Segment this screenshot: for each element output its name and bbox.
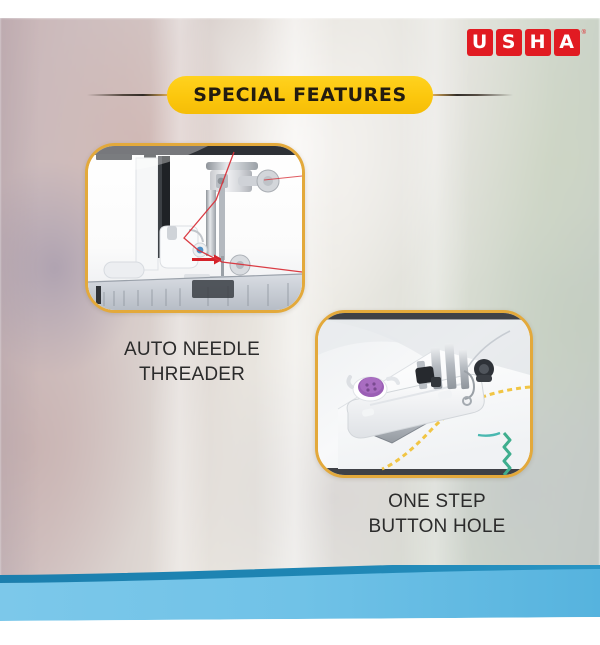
caption-one-step-button-hole: ONE STEP BUTTON HOLE bbox=[305, 489, 569, 539]
promo-banner-canvas: U S H A ® SPECIAL FEATURES bbox=[0, 0, 600, 645]
top-white-strip bbox=[0, 0, 600, 18]
logo-letter-u: U bbox=[467, 29, 493, 56]
logo-letter-a: A bbox=[554, 29, 580, 56]
auto-needle-threader-photo bbox=[88, 146, 302, 310]
banner-rule-left bbox=[87, 94, 167, 96]
special-features-banner: SPECIAL FEATURES bbox=[0, 76, 600, 114]
banner-pill: SPECIAL FEATURES bbox=[167, 76, 433, 114]
footer-wave bbox=[0, 565, 600, 645]
logo-letter-h: H bbox=[525, 29, 551, 56]
usha-logo: U S H A ® bbox=[467, 29, 586, 56]
caption-line-1: ONE STEP bbox=[305, 489, 569, 514]
caption-line-1: AUTO NEEDLE bbox=[60, 337, 324, 362]
caption-line-2: BUTTON HOLE bbox=[305, 514, 569, 539]
logo-tiles: U S H A bbox=[467, 29, 580, 56]
logo-letter-s: S bbox=[496, 29, 522, 56]
banner-rule-right bbox=[433, 94, 513, 96]
feature-card-one-step-button-hole[interactable] bbox=[315, 310, 533, 478]
banner-title: SPECIAL FEATURES bbox=[193, 84, 407, 106]
registered-trademark-icon: ® bbox=[582, 30, 586, 36]
caption-auto-needle-threader: AUTO NEEDLE THREADER bbox=[60, 337, 324, 387]
caption-line-2: THREADER bbox=[60, 362, 324, 387]
one-step-button-hole-photo bbox=[318, 313, 530, 475]
feature-card-auto-needle-threader[interactable] bbox=[85, 143, 305, 313]
